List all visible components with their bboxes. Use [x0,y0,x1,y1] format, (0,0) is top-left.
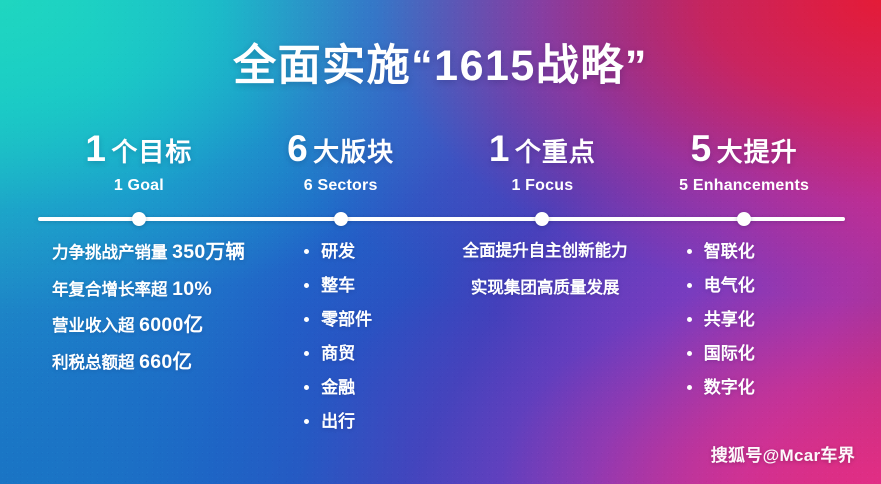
column-focus: 全面提升自主创新能力 实现集团高质量发展 [462,243,627,447]
timeline-dot-cell-sectors [240,212,442,226]
list-item: 研发 [297,243,462,260]
list-item: 利税总额超 660亿 [38,353,245,373]
focus-line: 全面提升自主创新能力 [462,243,627,260]
list-item: 电气化 [680,277,845,294]
timeline-dot-icon [132,212,146,226]
list-item: 营业收入超 6000亿 [38,316,245,336]
stat-label: 年复合增长率超 [52,281,168,299]
column-sectors: 研发 整车 零部件 商贸 金融 出行 [245,243,462,447]
list-item: 年复合增长率超 10% [38,280,245,300]
header-column-goal: 1个目标 1 Goal [38,130,240,195]
header-row: 1个目标 1 Goal 6大版块 6 Sectors 1个重点 1 Focus … [38,130,845,195]
stat-value: 10% [172,278,212,300]
header-number-focus: 1 [489,128,510,169]
stat-value: 660亿 [139,351,192,373]
header-en-focus: 1 Focus [442,177,644,195]
header-cn-enhancements: 大提升 [717,137,798,167]
timeline-dot-cell-focus [442,212,644,226]
header-en-sectors: 6 Sectors [240,177,442,195]
timeline-dot-cell-enhancements [643,212,845,226]
header-cn-focus: 个重点 [515,137,596,167]
stat-label: 利税总额超 [52,354,135,372]
header-en-enhancements: 5 Enhancements [643,177,845,195]
timeline-divider [38,212,845,226]
focus-line-group: 全面提升自主创新能力 实现集团高质量发展 [462,243,627,296]
list-item: 商贸 [297,345,462,362]
list-item: 整车 [297,277,462,294]
list-item: 智联化 [680,243,845,260]
stat-value: 6000亿 [139,314,203,336]
timeline-dot-cell-goal [38,212,240,226]
focus-line: 实现集团高质量发展 [462,280,627,297]
watermark: 搜狐号@Mcar车界 [711,441,855,466]
goal-stat-list: 力争挑战产销量 350万辆 年复合增长率超 10% 营业收入超 6000亿 利税… [38,243,245,372]
timeline-dot-icon [334,212,348,226]
column-goal: 力争挑战产销量 350万辆 年复合增长率超 10% 营业收入超 6000亿 利税… [38,243,245,447]
timeline-dot-icon [535,212,549,226]
header-number-goal: 1 [85,128,106,169]
header-main-focus: 1个重点 [442,130,644,167]
enhancement-bullet-list: 智联化 电气化 共享化 国际化 数字化 [680,243,845,396]
header-main-goal: 1个目标 [38,130,240,167]
header-main-enhancements: 5大提升 [643,130,845,167]
header-cn-sectors: 大版块 [313,137,394,167]
timeline-dot-row [38,212,845,226]
header-column-enhancements: 5大提升 5 Enhancements [643,130,845,195]
list-item: 共享化 [680,311,845,328]
stat-value: 350万辆 [172,241,245,263]
page-title: 全面实施“1615战略” [0,41,881,92]
list-item: 金融 [297,379,462,396]
header-number-enhancements: 5 [691,128,712,169]
header-column-focus: 1个重点 1 Focus [442,130,644,195]
header-column-sectors: 6大版块 6 Sectors [240,130,442,195]
content-row: 力争挑战产销量 350万辆 年复合增长率超 10% 营业收入超 6000亿 利税… [38,243,845,447]
sector-bullet-list: 研发 整车 零部件 商贸 金融 出行 [297,243,462,430]
header-main-sectors: 6大版块 [240,130,442,167]
list-item: 国际化 [680,345,845,362]
list-item: 出行 [297,413,462,430]
stat-label: 力争挑战产销量 [52,244,168,262]
list-item: 力争挑战产销量 350万辆 [38,243,245,263]
poster-canvas: 全面实施“1615战略” 1个目标 1 Goal 6大版块 6 Sectors … [0,0,881,484]
header-number-sectors: 6 [287,128,308,169]
timeline-dot-icon [737,212,751,226]
header-cn-goal: 个目标 [111,137,192,167]
column-enhancements: 智联化 电气化 共享化 国际化 数字化 [628,243,845,447]
list-item: 数字化 [680,379,845,396]
header-en-goal: 1 Goal [38,177,240,195]
stat-label: 营业收入超 [52,317,135,335]
list-item: 零部件 [297,311,462,328]
